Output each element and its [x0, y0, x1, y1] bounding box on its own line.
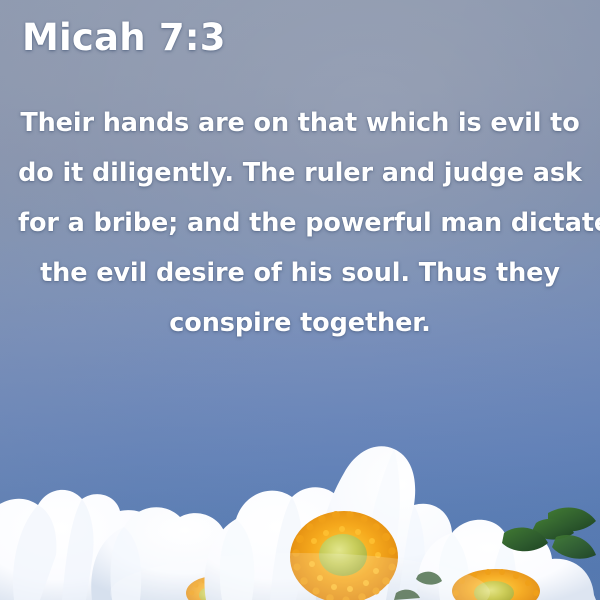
verse-line: the evil desire of his soul. Thus they [18, 248, 582, 298]
verse-line: Their hands are on that which is evil to [18, 98, 582, 148]
verse-line: do it diligently. The ruler and judge as… [18, 148, 582, 198]
verse-line: for a bribe; and the powerful man dictat… [18, 198, 582, 248]
verse-body-text: Their hands are on that which is evil to… [0, 98, 600, 348]
white-anemone-flowers [0, 415, 600, 600]
verse-line: conspire together. [18, 298, 582, 348]
verse-reference-title: Micah 7:3 [22, 16, 226, 59]
scripture-verse-image: Micah 7:3 Their hands are on that which … [0, 0, 600, 600]
